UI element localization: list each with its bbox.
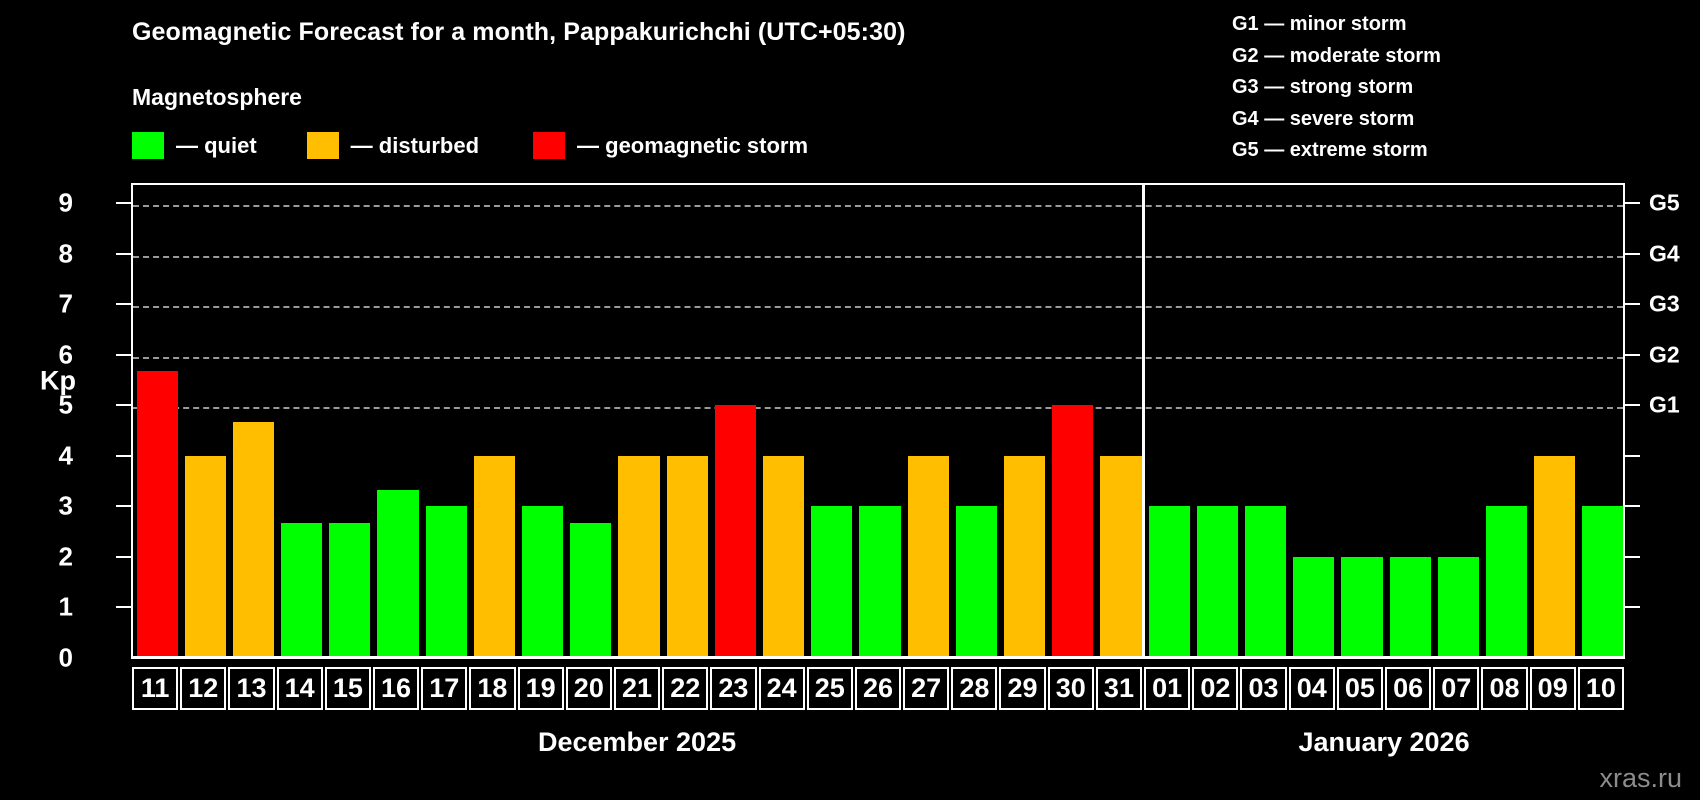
legend-swatch-quiet bbox=[132, 132, 164, 159]
g-tickmark-G1 bbox=[1625, 404, 1640, 406]
bar-19 bbox=[522, 506, 563, 658]
y-tick-4: 4 bbox=[13, 440, 73, 471]
y-tick-2: 2 bbox=[13, 541, 73, 572]
storm-scale-legend: G1 — minor storm G2 — moderate storm G3 … bbox=[1232, 9, 1441, 167]
date-cell-27[interactable]: 27 bbox=[903, 667, 949, 710]
date-cell-25[interactable]: 25 bbox=[807, 667, 853, 710]
bar-11 bbox=[137, 371, 178, 658]
chart-plot-area bbox=[131, 183, 1625, 658]
bar-03 bbox=[1245, 506, 1286, 658]
g-tick-G3: G3 bbox=[1649, 291, 1680, 318]
bar-29 bbox=[1004, 456, 1045, 658]
y-tickmark-7 bbox=[116, 303, 131, 305]
date-cell-12[interactable]: 12 bbox=[180, 667, 226, 710]
legend-swatch-disturbed bbox=[307, 132, 339, 159]
bar-25 bbox=[811, 506, 852, 658]
bar-30 bbox=[1052, 405, 1093, 658]
bar-07 bbox=[1438, 557, 1479, 658]
date-cell-15[interactable]: 15 bbox=[325, 667, 371, 710]
date-cell-19[interactable]: 19 bbox=[518, 667, 564, 710]
bar-28 bbox=[956, 506, 997, 658]
legend-swatch-storm bbox=[533, 132, 565, 159]
g-minor-tickmark-4 bbox=[1625, 455, 1640, 457]
month-divider bbox=[1142, 183, 1145, 656]
bar-13 bbox=[233, 422, 274, 658]
bar-22 bbox=[667, 456, 708, 658]
bar-10 bbox=[1582, 506, 1623, 658]
bar-02 bbox=[1197, 506, 1238, 658]
watermark: xras.ru bbox=[1599, 763, 1682, 794]
storm-scale-g1: G1 — minor storm bbox=[1232, 9, 1441, 41]
legend-item-storm: — geomagnetic storm bbox=[533, 132, 808, 159]
bar-23 bbox=[715, 405, 756, 658]
g-minor-tickmark-1 bbox=[1625, 606, 1640, 608]
date-cell-21[interactable]: 21 bbox=[614, 667, 660, 710]
g-tick-G4: G4 bbox=[1649, 240, 1680, 267]
date-cell-17[interactable]: 17 bbox=[421, 667, 467, 710]
date-cell-18[interactable]: 18 bbox=[469, 667, 515, 710]
bar-26 bbox=[859, 506, 900, 658]
g-tick-G2: G2 bbox=[1649, 341, 1680, 368]
y-tickmark-2 bbox=[116, 556, 131, 558]
bar-09 bbox=[1534, 456, 1575, 658]
date-cell-01[interactable]: 01 bbox=[1144, 667, 1190, 710]
date-cell-11[interactable]: 11 bbox=[132, 667, 178, 710]
storm-scale-g4: G4 — severe storm bbox=[1232, 104, 1441, 136]
legend-label-disturbed: — disturbed bbox=[351, 133, 479, 159]
y-tick-1: 1 bbox=[13, 592, 73, 623]
bar-01 bbox=[1149, 506, 1190, 658]
date-cell-08[interactable]: 08 bbox=[1481, 667, 1527, 710]
date-cell-23[interactable]: 23 bbox=[710, 667, 756, 710]
page-title: Geomagnetic Forecast for a month, Pappak… bbox=[132, 18, 906, 47]
y-tick-3: 3 bbox=[13, 491, 73, 522]
bar-15 bbox=[329, 523, 370, 658]
date-cell-29[interactable]: 29 bbox=[999, 667, 1045, 710]
date-cell-28[interactable]: 28 bbox=[951, 667, 997, 710]
bar-16 bbox=[377, 490, 418, 658]
bar-27 bbox=[908, 456, 949, 658]
y-tickmark-8 bbox=[116, 253, 131, 255]
legend-item-disturbed: — disturbed bbox=[307, 132, 479, 159]
bar-series bbox=[133, 185, 1623, 658]
g-tick-G5: G5 bbox=[1649, 190, 1680, 217]
bar-04 bbox=[1293, 557, 1334, 658]
g-tick-G1: G1 bbox=[1649, 392, 1680, 419]
date-cell-02[interactable]: 02 bbox=[1192, 667, 1238, 710]
bar-20 bbox=[570, 523, 611, 658]
g-tickmark-G3 bbox=[1625, 303, 1640, 305]
g-minor-tickmark-2 bbox=[1625, 556, 1640, 558]
storm-scale-g3: G3 — strong storm bbox=[1232, 72, 1441, 104]
magnetosphere-legend: — quiet — disturbed — geomagnetic storm bbox=[132, 132, 808, 159]
date-cell-14[interactable]: 14 bbox=[277, 667, 323, 710]
date-cell-13[interactable]: 13 bbox=[228, 667, 274, 710]
y-tick-5: 5 bbox=[13, 390, 73, 421]
date-cell-09[interactable]: 09 bbox=[1530, 667, 1576, 710]
legend-label-quiet: — quiet bbox=[176, 133, 257, 159]
y-tickmark-6 bbox=[116, 354, 131, 356]
bar-21 bbox=[618, 456, 659, 658]
bar-05 bbox=[1341, 557, 1382, 658]
y-tick-9: 9 bbox=[13, 188, 73, 219]
bar-06 bbox=[1390, 557, 1431, 658]
storm-scale-g5: G5 — extreme storm bbox=[1232, 135, 1441, 167]
date-cell-03[interactable]: 03 bbox=[1240, 667, 1286, 710]
date-cell-26[interactable]: 26 bbox=[855, 667, 901, 710]
y-tickmark-5 bbox=[116, 404, 131, 406]
bar-18 bbox=[474, 456, 515, 658]
g-minor-tickmark-3 bbox=[1625, 505, 1640, 507]
date-cell-20[interactable]: 20 bbox=[566, 667, 612, 710]
date-cell-22[interactable]: 22 bbox=[662, 667, 708, 710]
bar-14 bbox=[281, 523, 322, 658]
y-tickmark-3 bbox=[116, 505, 131, 507]
y-tickmark-1 bbox=[116, 606, 131, 608]
magnetosphere-heading: Magnetosphere bbox=[132, 84, 302, 111]
date-cell-06[interactable]: 06 bbox=[1385, 667, 1431, 710]
date-cell-31[interactable]: 31 bbox=[1096, 667, 1142, 710]
g-tickmark-G2 bbox=[1625, 354, 1640, 356]
bar-24 bbox=[763, 456, 804, 658]
y-tick-8: 8 bbox=[13, 238, 73, 269]
y-tickmark-9 bbox=[116, 202, 131, 204]
bar-31 bbox=[1100, 456, 1141, 658]
bar-12 bbox=[185, 456, 226, 658]
month-label-january: January 2026 bbox=[1298, 727, 1469, 758]
legend-item-quiet: — quiet bbox=[132, 132, 257, 159]
storm-scale-g2: G2 — moderate storm bbox=[1232, 41, 1441, 73]
g-tickmark-G4 bbox=[1625, 253, 1640, 255]
x-axis-line bbox=[131, 656, 1625, 659]
month-label-december: December 2025 bbox=[538, 727, 736, 758]
legend-label-storm: — geomagnetic storm bbox=[577, 133, 808, 159]
date-cell-05[interactable]: 05 bbox=[1337, 667, 1383, 710]
g-tickmark-G5 bbox=[1625, 202, 1640, 204]
date-cell-10[interactable]: 10 bbox=[1578, 667, 1624, 710]
date-cell-04[interactable]: 04 bbox=[1289, 667, 1335, 710]
date-cell-16[interactable]: 16 bbox=[373, 667, 419, 710]
date-cell-30[interactable]: 30 bbox=[1048, 667, 1094, 710]
y-tick-6: 6 bbox=[13, 339, 73, 370]
bar-08 bbox=[1486, 506, 1527, 658]
date-cell-24[interactable]: 24 bbox=[759, 667, 805, 710]
date-cell-07[interactable]: 07 bbox=[1433, 667, 1479, 710]
y-tick-7: 7 bbox=[13, 289, 73, 320]
y-tick-0: 0 bbox=[13, 643, 73, 674]
bar-17 bbox=[426, 506, 467, 658]
y-tickmark-4 bbox=[116, 455, 131, 457]
